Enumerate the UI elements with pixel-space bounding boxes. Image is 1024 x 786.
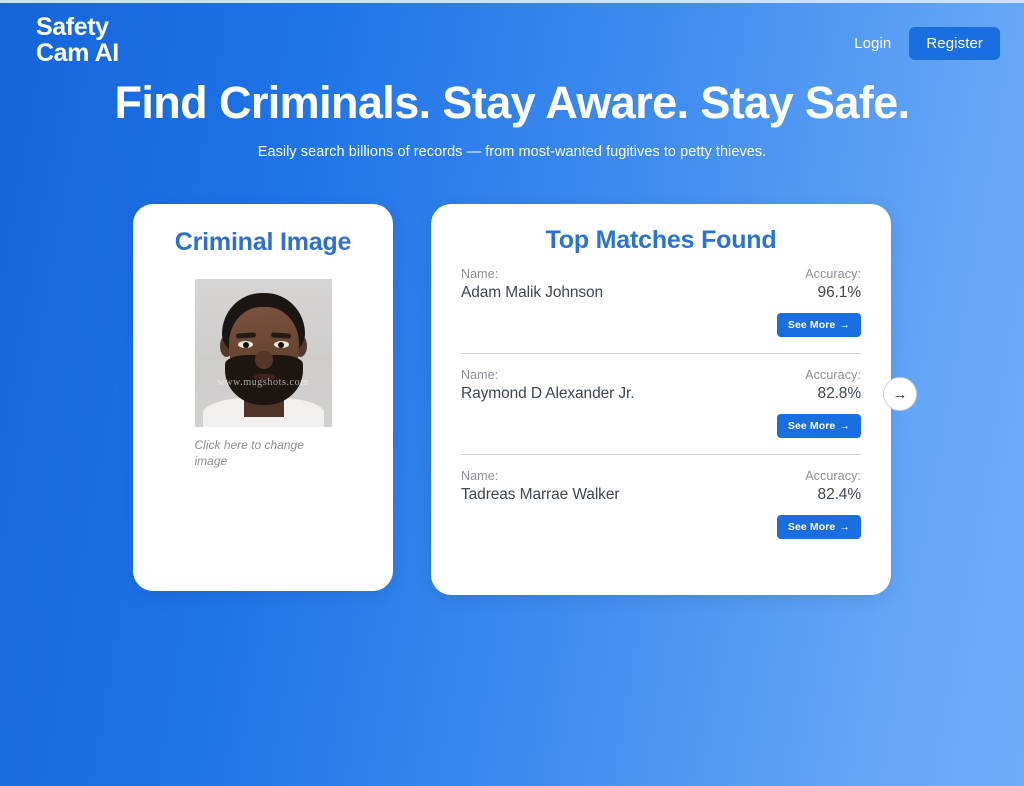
match-name: Tadreas Marrae Walker <box>461 486 619 504</box>
match-row: Name: Accuracy: Adam Malik Johnson 96.1%… <box>461 267 861 337</box>
login-link[interactable]: Login <box>854 35 891 52</box>
match-list: Name: Accuracy: Adam Malik Johnson 96.1%… <box>461 267 861 539</box>
criminal-image-card: Criminal Image <box>133 204 393 591</box>
name-label: Name: <box>461 267 498 281</box>
mugshot-pupil-right <box>278 342 284 348</box>
mugshot-photo[interactable]: www.mugshots.com <box>195 279 332 427</box>
accuracy-label: Accuracy: <box>805 469 861 483</box>
match-row: Name: Accuracy: Raymond D Alexander Jr. … <box>461 368 861 438</box>
header-nav: Login Register <box>854 27 1000 60</box>
see-more-button[interactable]: See More→ <box>777 515 861 539</box>
arrow-right-icon: → <box>839 521 850 533</box>
match-row: Name: Accuracy: Tadreas Marrae Walker 82… <box>461 469 861 539</box>
criminal-image-title: Criminal Image <box>161 228 365 257</box>
mugshot-wrapper: www.mugshots.com Click here to change im… <box>195 279 332 469</box>
match-values: Adam Malik Johnson 96.1% <box>461 284 861 302</box>
mugshot-pupil-left <box>243 342 249 348</box>
name-label: Name: <box>461 368 498 382</box>
see-more-label: See More <box>788 521 836 533</box>
accuracy-label: Accuracy: <box>805 368 861 382</box>
match-accuracy: 82.8% <box>818 385 861 403</box>
see-more-label: See More <box>788 319 836 331</box>
match-accuracy: 96.1% <box>818 284 861 302</box>
accuracy-label: Accuracy: <box>805 267 861 281</box>
brand-logo[interactable]: Safety Cam AI <box>36 15 119 66</box>
arrow-right-circle-icon: → <box>893 387 908 402</box>
see-more-button[interactable]: See More→ <box>777 414 861 438</box>
match-name: Adam Malik Johnson <box>461 284 603 302</box>
site-header: Safety Cam AI Login Register <box>0 3 1024 65</box>
landing-page: Safety Cam AI Login Register Find Crimin… <box>0 0 1024 786</box>
see-more-wrapper: See More→ <box>461 414 861 438</box>
match-accuracy: 82.4% <box>818 486 861 504</box>
hero-title: Find Criminals. Stay Aware. Stay Safe. <box>0 78 1024 128</box>
match-divider <box>461 353 861 354</box>
mugshot-nose <box>255 351 273 369</box>
arrow-right-icon: → <box>839 420 850 432</box>
next-matches-button[interactable]: → <box>883 377 917 411</box>
arrow-right-icon: → <box>839 319 850 331</box>
match-name: Raymond D Alexander Jr. <box>461 385 634 403</box>
match-divider <box>461 454 861 455</box>
top-matches-title: Top Matches Found <box>461 226 861 255</box>
match-labels: Name: Accuracy: <box>461 469 861 483</box>
see-more-button[interactable]: See More→ <box>777 313 861 337</box>
hero-subtitle: Easily search billions of records — from… <box>0 144 1024 160</box>
match-labels: Name: Accuracy: <box>461 368 861 382</box>
match-values: Raymond D Alexander Jr. 82.8% <box>461 385 861 403</box>
see-more-label: See More <box>788 420 836 432</box>
see-more-wrapper: See More→ <box>461 313 861 337</box>
see-more-wrapper: See More→ <box>461 515 861 539</box>
top-matches-card: Top Matches Found Name: Accuracy: Adam M… <box>431 204 891 595</box>
match-labels: Name: Accuracy: <box>461 267 861 281</box>
mugshot-mouth <box>254 374 275 380</box>
match-values: Tadreas Marrae Walker 82.4% <box>461 486 861 504</box>
name-label: Name: <box>461 469 498 483</box>
hero-section: Find Criminals. Stay Aware. Stay Safe. E… <box>0 78 1024 160</box>
register-button[interactable]: Register <box>909 27 1000 60</box>
cards-row: Criminal Image <box>0 204 1024 595</box>
change-image-hint[interactable]: Click here to change image <box>195 437 315 469</box>
